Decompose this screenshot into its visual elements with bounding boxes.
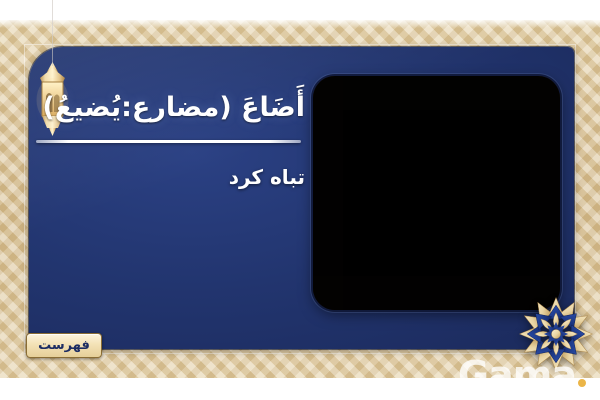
sculptor-workshop-image	[313, 76, 560, 310]
headword-arabic: أَضَاعَ (مضارع:يُضيعُ)	[30, 90, 305, 126]
illustration-card	[313, 76, 560, 310]
rosette-decoration	[518, 296, 594, 372]
index-button-label: فهرست	[38, 339, 90, 353]
slide-root: أَضَاعَ (مضارع:يُضيعُ) تباه کرد	[0, 0, 600, 400]
islamic-star-rosette-icon	[518, 296, 594, 372]
lantern-cord	[52, 0, 53, 66]
index-button[interactable]: فهرست	[26, 333, 102, 358]
divider-rule	[36, 140, 301, 143]
frame-top-highlight	[0, 20, 600, 28]
watermark-dot	[578, 379, 586, 387]
vocabulary-text-block: أَضَاعَ (مضارع:يُضيعُ) تباه کرد	[30, 90, 305, 189]
meaning-persian: تباه کرد	[30, 165, 305, 189]
